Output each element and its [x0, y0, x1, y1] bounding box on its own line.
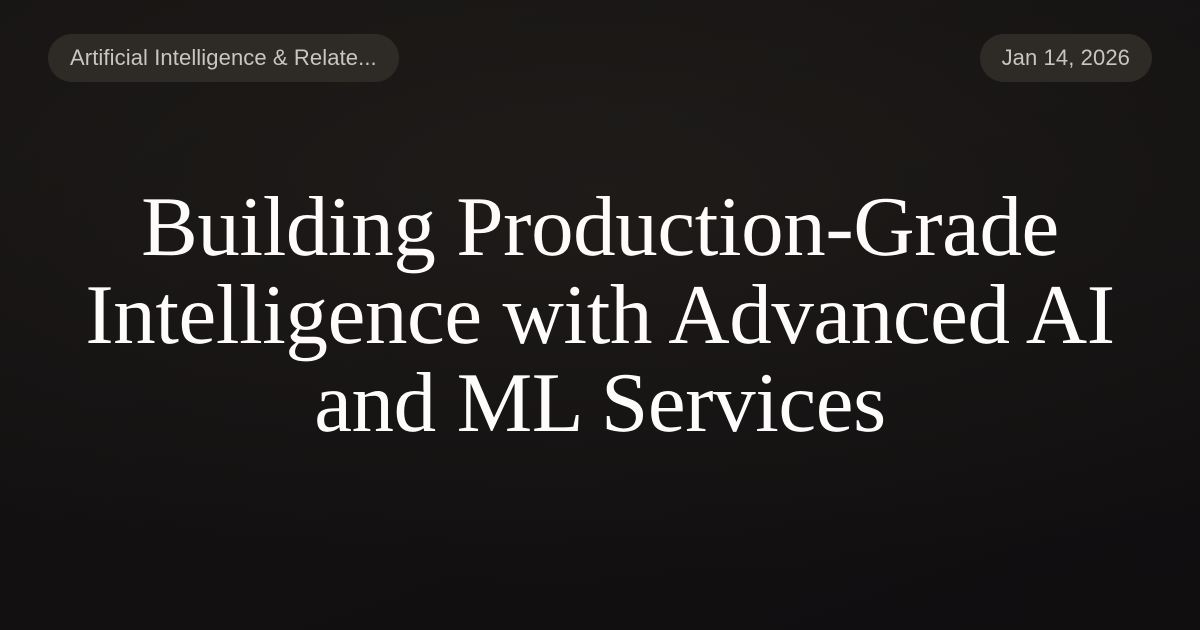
- date-badge: Jan 14, 2026: [980, 34, 1152, 82]
- title-block: Building Production-Grade Intelligence w…: [60, 0, 1140, 630]
- page-title-line-1: Building Production-Grade: [60, 183, 1140, 271]
- page-title-line-3: and ML Services: [60, 359, 1140, 447]
- page-title: Building Production-Grade Intelligence w…: [60, 183, 1140, 447]
- page-title-line-2: Intelligence with Advanced AI: [60, 271, 1140, 359]
- category-badge[interactable]: Artificial Intelligence & Relate...: [48, 34, 399, 82]
- og-card: Artificial Intelligence & Relate... Jan …: [0, 0, 1200, 630]
- meta-row: Artificial Intelligence & Relate... Jan …: [48, 34, 1152, 82]
